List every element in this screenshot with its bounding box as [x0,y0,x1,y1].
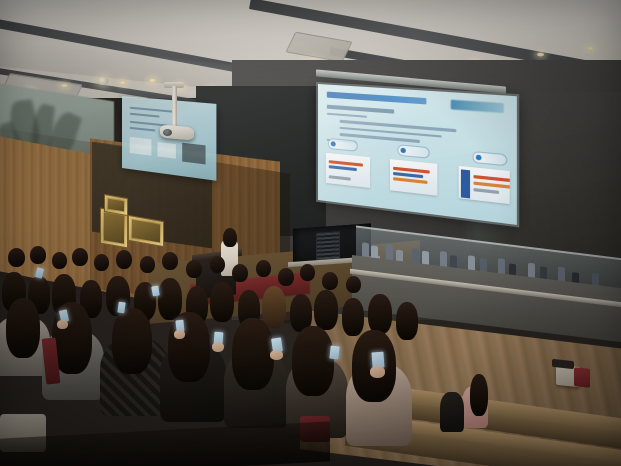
audience-member-hair [232,318,274,390]
audience-member [342,298,364,336]
smartphone [151,285,160,296]
brand-logo [472,151,507,166]
seated-person [440,392,464,432]
audience-member-hair [168,312,210,382]
audience-member [186,260,202,278]
audience-member [162,252,178,270]
audience-member [30,246,46,264]
hand [212,342,224,352]
slide-bullet [327,112,367,118]
projector-lens [163,129,172,136]
seated-person-hair [470,374,488,416]
hand [57,320,68,329]
hand [174,330,185,339]
brand-logo [328,138,358,152]
audience-member [158,278,182,320]
audience-member [72,248,88,266]
audience-member [232,264,248,282]
slide-title-bar [327,92,427,105]
audience-member [94,254,109,271]
audience-member [210,282,234,322]
audience-member [140,256,155,273]
audience-member [322,272,338,290]
ceiling-spotlight [97,77,108,85]
product-image [326,153,370,188]
lecture-hall-photo: Elevated view of a packed auditorium dur… [0,0,621,466]
projection-screen [318,84,517,225]
downlight [148,78,157,83]
audience-member [300,264,315,281]
downlight [118,80,127,85]
audience-member [346,276,361,293]
audience-member [52,252,67,269]
audience-member [278,268,294,286]
presenter-hair [223,228,237,247]
audience-member [210,256,225,273]
audience-member-hair [112,308,152,374]
audience-member [314,290,338,330]
audience-member [262,286,286,328]
smartphone [329,346,339,360]
handbag [574,367,590,388]
hand [370,366,385,378]
audience-member-hair [292,326,334,396]
audience-member [256,260,271,277]
audience-member-hair [6,298,40,358]
downlight [536,52,545,57]
presenter-logo [451,100,504,113]
projector-pole [172,86,177,130]
audience-member [396,302,418,340]
audience-member [116,250,132,269]
air-vent [285,32,352,63]
audience-member [368,294,392,334]
product-image [459,166,510,204]
audience-member [8,248,25,267]
hand [270,350,283,360]
slide-subtitle-bar [327,105,395,114]
downlight [60,83,69,88]
screen-surface [318,84,517,225]
product-image [390,159,437,196]
downlight [586,46,595,51]
brand-logo [397,144,429,159]
